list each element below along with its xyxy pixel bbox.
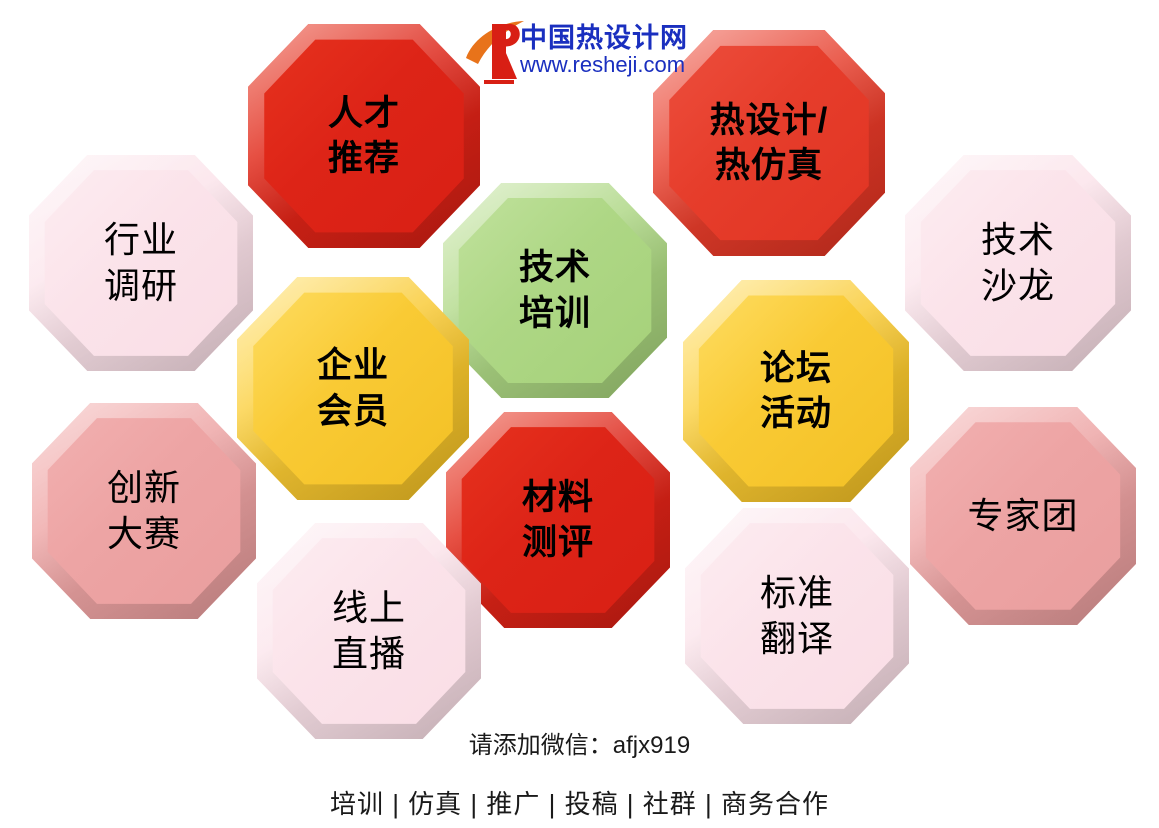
hex-label: 专家团 (910, 407, 1136, 625)
hex-label-line: 材料 (522, 478, 594, 517)
hex-label-line: 沙龙 (981, 266, 1055, 306)
hex-label-line: 专家团 (967, 496, 1078, 536)
hex-label-line: 培训 (519, 294, 591, 333)
hex-tile-tech-salon[interactable]: 技术沙龙 (905, 155, 1131, 371)
hex-label-line: 热仿真 (715, 146, 823, 185)
logo-site-name: 中国热设计网 (520, 16, 688, 55)
service-nav-line: 培训 | 仿真 | 推广 | 投稿 | 社群 | 商务合作 (0, 784, 1159, 821)
hex-label: 技术沙龙 (905, 155, 1131, 371)
logo-url: www.resheji.com (520, 52, 685, 78)
hex-label-line: 热设计/ (710, 101, 829, 140)
hex-tile-forum-activity[interactable]: 论坛活动 (683, 280, 909, 502)
hex-label: 人才推荐 (248, 24, 480, 248)
hex-label-line: 测评 (522, 523, 594, 562)
hex-tile-online-live[interactable]: 线上直播 (257, 523, 481, 739)
hex-label-line: 翻译 (760, 619, 834, 659)
hex-label: 标准翻译 (685, 508, 909, 724)
hex-label-line: 论坛 (760, 349, 832, 388)
hex-label: 论坛活动 (683, 280, 909, 502)
hex-tile-enterprise-member[interactable]: 企业会员 (237, 277, 469, 500)
hex-label-line: 技术 (519, 248, 591, 287)
hex-tile-talent-recommendation[interactable]: 人才推荐 (248, 24, 480, 248)
hex-tile-thermal-design-sim[interactable]: 热设计/热仿真 (653, 30, 885, 256)
hex-label-line: 调研 (104, 266, 178, 306)
hex-tile-industry-research[interactable]: 行业调研 (29, 155, 253, 371)
hex-tile-technical-training[interactable]: 技术培训 (443, 183, 667, 398)
hex-label-line: 大赛 (107, 514, 181, 554)
site-logo[interactable]: 中国热设计网 www.resheji.com (462, 14, 677, 90)
hex-tile-standard-translation[interactable]: 标准翻译 (685, 508, 909, 724)
hex-label-line: 企业 (317, 346, 389, 385)
logo-r-icon (462, 18, 528, 86)
hex-label: 行业调研 (29, 155, 253, 371)
hex-tile-expert-team[interactable]: 专家团 (910, 407, 1136, 625)
hex-label-line: 直播 (332, 634, 406, 674)
hex-label-line: 会员 (317, 392, 389, 431)
hex-label-line: 技术 (981, 220, 1055, 260)
hex-tile-innovation-contest[interactable]: 创新大赛 (32, 403, 256, 619)
hex-label-line: 人才 (328, 94, 400, 133)
hex-label-line: 行业 (104, 220, 178, 260)
hex-label: 企业会员 (237, 277, 469, 500)
hex-label-line: 标准 (760, 573, 834, 613)
wechat-contact-line: 请添加微信：afjx919 (0, 725, 1159, 760)
hex-label-line: 创新 (107, 468, 181, 508)
hex-label-line: 活动 (760, 394, 832, 433)
hex-label: 技术培训 (443, 183, 667, 398)
hex-label: 线上直播 (257, 523, 481, 739)
hex-label: 创新大赛 (32, 403, 256, 619)
poster-canvas: 人才推荐热设计/热仿真行业调研技术沙龙技术培训企业会员论坛活动创新大赛专家团材料… (0, 0, 1159, 828)
hex-label: 热设计/热仿真 (653, 30, 885, 256)
hex-label-line: 线上 (332, 588, 406, 628)
hex-label-line: 推荐 (328, 139, 400, 178)
